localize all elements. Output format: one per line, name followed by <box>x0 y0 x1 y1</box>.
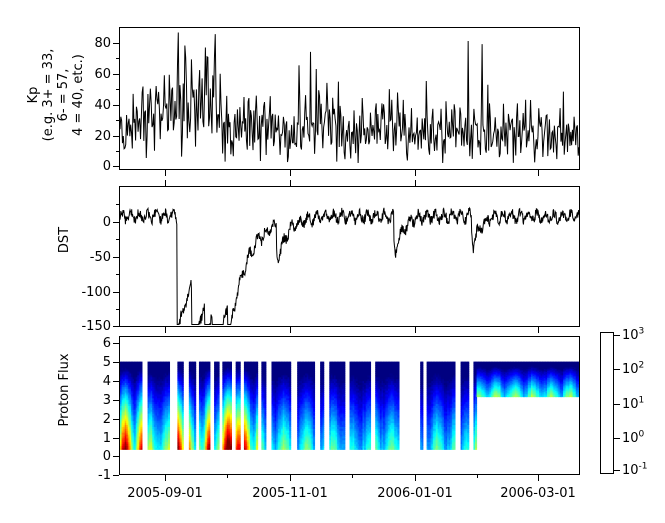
dst-ytick-label-m50: -50 <box>63 251 111 264</box>
colorbar-label-1em1-exponent: -1 <box>639 462 648 472</box>
kp-ytick-label-80: 80 <box>79 37 111 50</box>
kp-xtick-2005-09-01 <box>165 170 166 176</box>
colorbar-label-1e1-mantissa: 10 <box>622 397 639 412</box>
flux-ytick-label-0: 0 <box>79 450 111 463</box>
flux-ytick-label-6: 6 <box>79 337 111 350</box>
colorbar-tick-1e0 <box>614 438 620 439</box>
flux-xtick-minor-1 <box>227 475 228 478</box>
colorbar-label-1e0-mantissa: 10 <box>622 431 639 446</box>
kp-xtick-2005-11-01 <box>290 170 291 176</box>
colorbar-label-1e0-exponent: 0 <box>639 430 645 440</box>
flux-axis-title: Proton Flux <box>57 330 72 450</box>
xtick-label-2005-09-01: 2005-09-01 <box>115 487 215 500</box>
dst-series-line <box>120 187 579 326</box>
kp-ytick-label-0: 0 <box>79 160 111 173</box>
kp-ytick-label-20: 20 <box>79 130 111 143</box>
kp-axis-title-line-3: 6- = 57, <box>56 20 71 170</box>
flux-ytick-label-4: 4 <box>79 375 111 388</box>
colorbar-tick-1em1 <box>614 470 620 471</box>
flux-xtick-2006-03-01 <box>538 475 539 481</box>
flux-ytick-label-1: 1 <box>79 432 111 445</box>
colorbar-label-1e2-mantissa: 10 <box>622 362 639 377</box>
kp-ytick-label-60: 60 <box>79 68 111 81</box>
flux-xtick-minor-2 <box>352 475 353 478</box>
xtick-label-2006-01-01: 2006-01-01 <box>365 487 465 500</box>
kp-axis-title: Kp (e.g. 3+ = 33, 6- = 57, 4 = 40, etc.) <box>26 20 86 170</box>
dst-xtick-2006-01-01 <box>415 327 416 333</box>
flux-xtick-2006-01-01 <box>415 475 416 481</box>
kp-series-line <box>120 28 579 169</box>
dst-xtick-top-2006-01-01 <box>415 180 416 186</box>
xtick-label-2005-11-01: 2005-11-01 <box>240 487 340 500</box>
flux-ytick-label-m1: -1 <box>79 469 111 482</box>
colorbar-label-1e3: 103 <box>622 329 644 342</box>
kp-axis-title-line-1: Kp <box>26 20 41 170</box>
flux-ytick-label-5: 5 <box>79 356 111 369</box>
space-weather-figure: Kp (e.g. 3+ = 33, 6- = 57, 4 = 40, etc.)… <box>0 0 665 523</box>
flux-ytick-label-3: 3 <box>79 394 111 407</box>
colorbar-label-1e2: 102 <box>622 363 644 376</box>
dst-ytick-label-0: 0 <box>63 216 111 229</box>
colorbar-tick-1e3 <box>614 335 620 336</box>
flux-xtick-2005-09-01 <box>165 475 166 481</box>
flux-xtick-minor-3 <box>477 475 478 478</box>
dst-xtick-top-2005-09-01 <box>165 180 166 186</box>
kp-axis-title-line-2: (e.g. 3+ = 33, <box>41 20 56 170</box>
kp-xtick-2006-03-01 <box>538 170 539 176</box>
proton-flux-colorbar: 103 102 101 100 10-1 <box>600 332 614 474</box>
dst-xtick-2005-09-01 <box>165 327 166 333</box>
kp-xtick-2006-01-01 <box>415 170 416 176</box>
dst-xtick-top-2005-11-01 <box>290 180 291 186</box>
flux-ytick-label-2: 2 <box>79 413 111 426</box>
colorbar-label-1e3-mantissa: 10 <box>622 328 639 343</box>
proton-flux-spectrogram <box>120 337 579 474</box>
colorbar-label-1e3-exponent: 3 <box>639 327 645 337</box>
colorbar-label-1em1-mantissa: 10 <box>622 463 639 478</box>
colorbar-tick-1e2 <box>614 369 620 370</box>
flux-ytick-m1 <box>113 475 119 476</box>
colorbar-label-1e0: 100 <box>622 432 644 445</box>
flux-xtick-2005-11-01 <box>290 475 291 481</box>
kp-plot-panel <box>119 27 580 170</box>
dst-ytick-label-m100: -100 <box>63 286 111 299</box>
proton-flux-plot-panel <box>119 336 580 475</box>
colorbar-label-1e1-exponent: 1 <box>639 396 645 406</box>
kp-ytick-label-40: 40 <box>79 99 111 112</box>
colorbar-gradient <box>600 332 614 474</box>
dst-plot-panel <box>119 186 580 327</box>
dst-xtick-2005-11-01 <box>290 327 291 333</box>
colorbar-label-1e1: 101 <box>622 398 644 411</box>
colorbar-label-1em1: 10-1 <box>622 464 648 477</box>
dst-xtick-2006-03-01 <box>538 327 539 333</box>
xtick-label-2006-03-01: 2006-03-01 <box>488 487 588 500</box>
colorbar-tick-1e1 <box>614 404 620 405</box>
colorbar-label-1e2-exponent: 2 <box>639 361 645 371</box>
